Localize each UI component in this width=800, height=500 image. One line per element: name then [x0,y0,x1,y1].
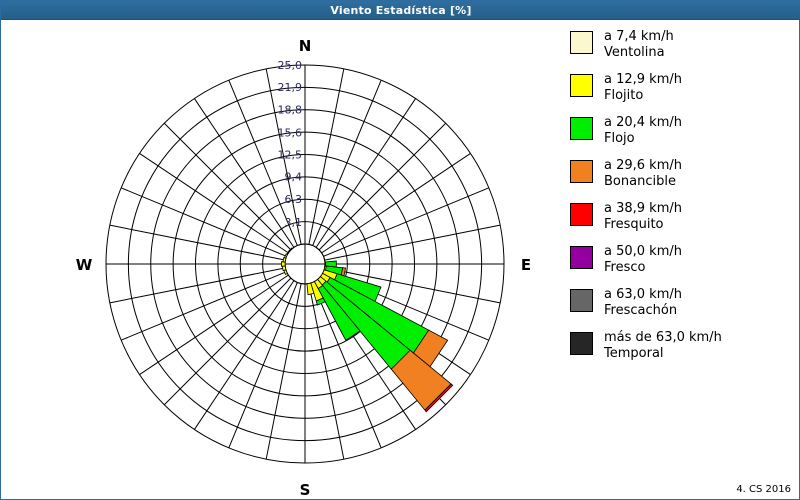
legend-category-label: Frescachón [604,303,682,319]
legend-color-swatch [570,246,593,269]
wind-petal-segment[interactable] [282,266,286,271]
legend-category-label: Fresco [604,260,682,276]
grid-spoke [121,272,286,341]
grid-spoke [309,69,344,245]
legend-item[interactable]: a 7,4 km/hVentolina [570,29,795,62]
legend: a 7,4 km/hVentolinaa 12,9 km/hFlojitoa 2… [569,29,795,373]
legend-item[interactable]: a 50,0 km/hFresco [570,244,795,277]
radial-tick-label: 25,0 [278,59,303,72]
legend-color-swatch [570,203,593,226]
wind-rose-svg: 3,16,39,412,515,618,821,925,0 NESW [3,21,563,499]
radial-tick-label: 12,5 [278,149,303,162]
legend-speed-label: más de 63,0 km/h [604,330,722,346]
grid-spoke [266,284,301,460]
legend-color-swatch [570,289,593,312]
legend-category-label: Fresquito [604,217,682,233]
legend-speed-label: a 63,0 km/h [604,287,682,303]
compass-labels: NESW [76,37,531,499]
radial-tick-label: 6,3 [285,193,303,206]
legend-category-label: Ventolina [604,45,674,61]
legend-category-label: Flojo [604,131,682,147]
legend-item[interactable]: a 12,9 km/hFlojito [570,72,795,105]
legend-speed-label: a 20,4 km/h [604,115,682,131]
radial-tick-label: 15,6 [278,126,303,139]
radial-tick-label: 3,1 [285,216,303,229]
grid-spoke [325,225,501,260]
window-title: Viento Estadística [%] [330,4,471,17]
window-title-bar: Viento Estadística [%] [1,1,800,20]
grid-spoke [110,268,286,303]
grid-spoke [164,278,291,405]
legend-item[interactable]: a 29,6 km/hBonancible [570,158,795,191]
legend-category-label: Flojito [604,88,682,104]
legend-item[interactable]: a 38,9 km/hFresquito [570,201,795,234]
legend-speed-label: a 29,6 km/h [604,158,682,174]
compass-label-south: S [300,481,311,499]
legend-color-swatch [570,332,593,355]
grid-spoke [323,188,488,257]
footer-credit: 4. CS 2016 [736,484,791,495]
legend-color-swatch [570,31,593,54]
legend-item[interactable]: a 63,0 km/hFrescachón [570,287,795,320]
legend-color-swatch [570,117,593,140]
radial-tick-label: 9,4 [285,171,303,184]
compass-label-west: W [76,256,93,274]
grid-spoke [121,188,286,257]
wind-petals [282,248,453,412]
legend-speed-label: a 50,0 km/h [604,244,682,260]
grid-spoke [110,225,286,260]
legend-speed-label: a 7,4 km/h [604,29,674,45]
legend-item[interactable]: a 20,4 km/hFlojo [570,115,795,148]
wind-rose-window: Viento Estadística [%] 3,16,39,412,515,6… [0,0,800,500]
radial-tick-label: 18,8 [278,103,303,116]
compass-label-north: N [299,37,312,55]
legend-color-swatch [570,74,593,97]
compass-label-east: E [521,256,531,274]
legend-speed-label: a 38,9 km/h [604,201,682,217]
legend-color-swatch [570,160,593,183]
grid-spoke [313,80,382,245]
legend-category-label: Temporal [604,346,722,362]
grid-spoke [319,123,446,250]
legend-category-label: Bonancible [604,174,682,190]
polar-grid [106,65,504,463]
window-content: 3,16,39,412,515,618,821,925,0 NESW a 7,4… [3,21,799,499]
radial-tick-label: 21,9 [278,81,303,94]
wind-rose-chart: 3,16,39,412,515,618,821,925,0 NESW [3,21,563,499]
grid-spoke [229,282,298,447]
legend-item[interactable]: más de 63,0 km/hTemporal [570,330,795,363]
legend-speed-label: a 12,9 km/h [604,72,682,88]
grid-spoke [164,123,291,250]
